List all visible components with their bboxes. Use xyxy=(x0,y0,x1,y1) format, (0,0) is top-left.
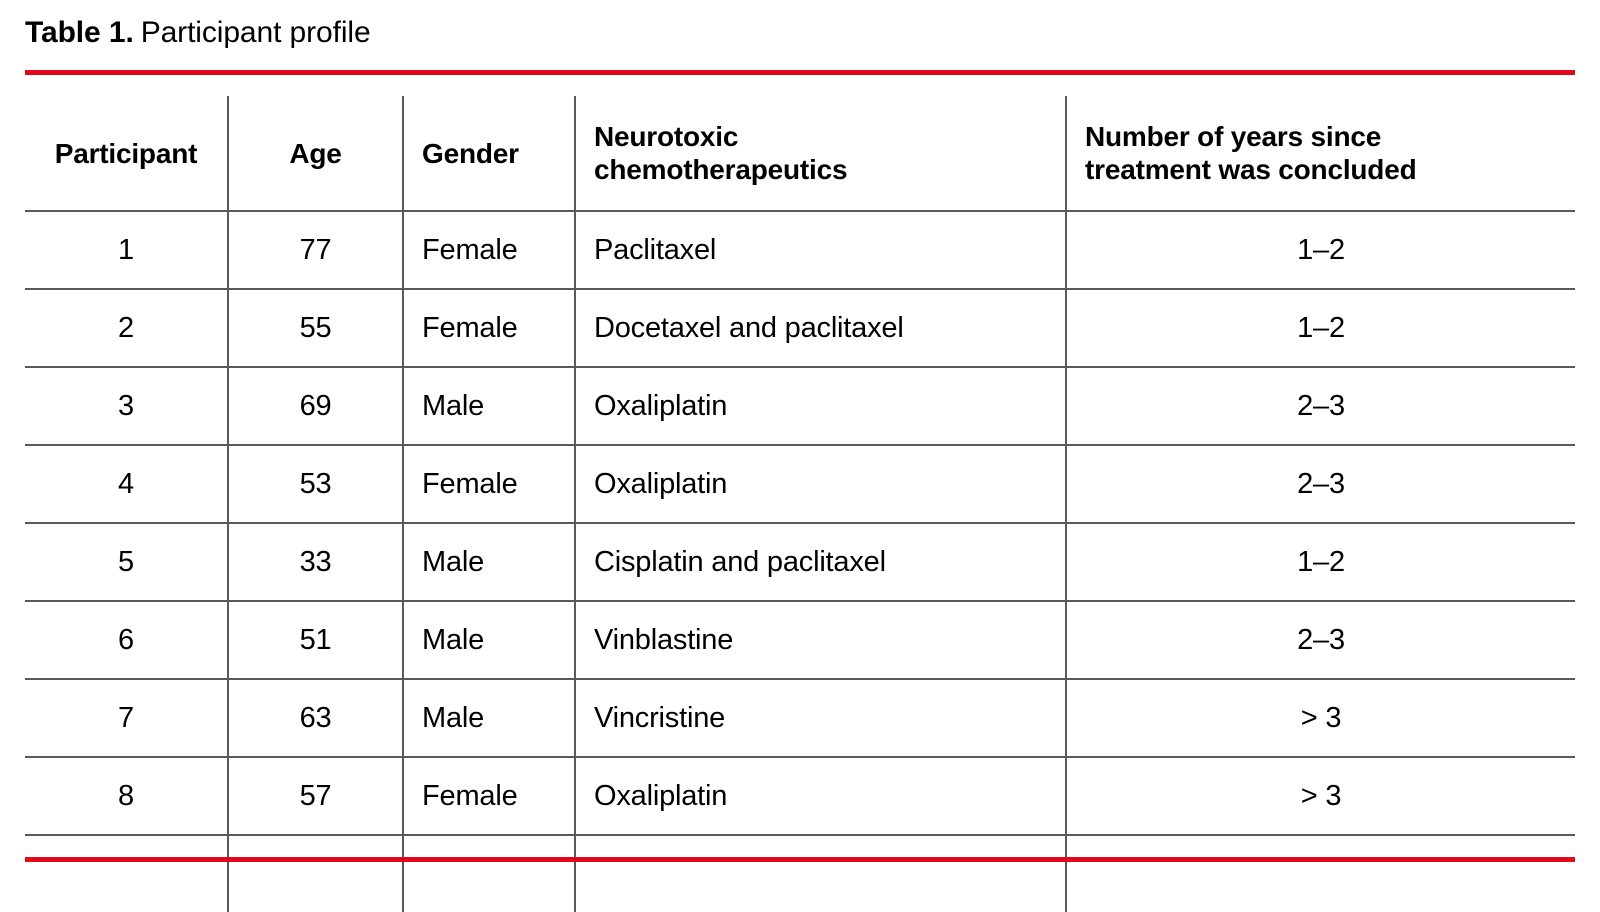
table-row: 651MaleVinblastine2–3 xyxy=(25,601,1575,679)
cell-years-value: > 3 xyxy=(1067,779,1575,813)
cell-participant-value: 1 xyxy=(25,233,227,267)
cell-years: > 3 xyxy=(1066,757,1575,835)
cell-age: 53 xyxy=(228,445,403,523)
cell-participant-value: 7 xyxy=(25,701,227,735)
column-header-years-line1: Number of years since xyxy=(1067,120,1575,153)
cell-age: 55 xyxy=(228,289,403,367)
cell-age: 33 xyxy=(228,523,403,601)
cell-participant: 1 xyxy=(25,211,228,289)
table-figure-page: Table 1.Participant profile Participant … xyxy=(0,0,1600,882)
cell-chemo: Cisplatin and paclitaxel xyxy=(575,523,1066,601)
cell-chemo-value: Oxaliplatin xyxy=(576,467,1065,501)
cell-participant: 6 xyxy=(25,601,228,679)
cell-years: 1–2 xyxy=(1066,211,1575,289)
table-row: 857FemaleOxaliplatin> 3 xyxy=(25,757,1575,835)
cell-gender-value: Female xyxy=(404,233,574,267)
table-body: 177FemalePaclitaxel1–2255FemaleDocetaxel… xyxy=(25,211,1575,912)
table-header-row: Participant Age Gender Neurotoxic chemot… xyxy=(25,96,1575,211)
cell-participant-value: 8 xyxy=(25,779,227,813)
cell-years: > 3 xyxy=(1066,679,1575,757)
cell-years-value: 1–2 xyxy=(1067,233,1575,267)
cell-chemo-value: Paclitaxel xyxy=(576,233,1065,267)
cell-chemo-value: Vinblastine xyxy=(576,623,1065,657)
cell-gender: Female xyxy=(403,757,575,835)
column-header-chemo: Neurotoxic chemotherapeutics xyxy=(575,96,1066,211)
cell-gender: Female xyxy=(403,211,575,289)
table-container: Participant Age Gender Neurotoxic chemot… xyxy=(25,96,1575,912)
cell-age: 69 xyxy=(228,367,403,445)
cell-participant-value: 5 xyxy=(25,545,227,579)
cell-chemo-value: Docetaxel and paclitaxel xyxy=(576,311,1065,345)
cell-gender: Male xyxy=(403,679,575,757)
spacer-cell-gender xyxy=(403,835,575,912)
cell-age: 57 xyxy=(228,757,403,835)
cell-chemo: Vinblastine xyxy=(575,601,1066,679)
column-header-gender: Gender xyxy=(403,96,575,211)
table-caption: Table 1.Participant profile xyxy=(25,14,371,52)
cell-years-value: 2–3 xyxy=(1067,623,1575,657)
cell-chemo: Oxaliplatin xyxy=(575,757,1066,835)
cell-age-value: 53 xyxy=(229,467,402,501)
cell-age-value: 33 xyxy=(229,545,402,579)
cell-gender-value: Male xyxy=(404,701,574,735)
cell-chemo: Oxaliplatin xyxy=(575,367,1066,445)
table-row: 255FemaleDocetaxel and paclitaxel1–2 xyxy=(25,289,1575,367)
cell-years-value: 2–3 xyxy=(1067,467,1575,501)
column-header-age-label: Age xyxy=(229,137,402,170)
cell-years: 1–2 xyxy=(1066,523,1575,601)
spacer-cell-chemo xyxy=(575,835,1066,912)
cell-years: 1–2 xyxy=(1066,289,1575,367)
cell-participant: 4 xyxy=(25,445,228,523)
column-header-gender-label: Gender xyxy=(404,137,574,170)
table-row: 453FemaleOxaliplatin2–3 xyxy=(25,445,1575,523)
cell-years: 2–3 xyxy=(1066,601,1575,679)
cell-years-value: > 3 xyxy=(1067,701,1575,735)
cell-gender: Male xyxy=(403,601,575,679)
cell-age-value: 69 xyxy=(229,389,402,423)
cell-gender: Female xyxy=(403,445,575,523)
cell-chemo-value: Vincristine xyxy=(576,701,1065,735)
cell-gender: Female xyxy=(403,289,575,367)
cell-chemo: Docetaxel and paclitaxel xyxy=(575,289,1066,367)
cell-gender-value: Male xyxy=(404,389,574,423)
cell-chemo-value: Cisplatin and paclitaxel xyxy=(576,545,1065,579)
cell-age: 63 xyxy=(228,679,403,757)
table-caption-text: Participant profile xyxy=(141,16,371,49)
cell-years: 2–3 xyxy=(1066,367,1575,445)
cell-gender-value: Male xyxy=(404,545,574,579)
cell-gender: Male xyxy=(403,523,575,601)
cell-age-value: 77 xyxy=(229,233,402,267)
column-header-chemo-line2: chemotherapeutics xyxy=(576,153,1065,186)
cell-years-value: 1–2 xyxy=(1067,311,1575,345)
cell-age: 77 xyxy=(228,211,403,289)
table-row: 177FemalePaclitaxel1–2 xyxy=(25,211,1575,289)
cell-years-value: 1–2 xyxy=(1067,545,1575,579)
cell-age-value: 57 xyxy=(229,779,402,813)
cell-age-value: 51 xyxy=(229,623,402,657)
participant-profile-table: Participant Age Gender Neurotoxic chemot… xyxy=(25,96,1575,912)
column-header-years: Number of years since treatment was conc… xyxy=(1066,96,1575,211)
cell-participant-value: 3 xyxy=(25,389,227,423)
cell-participant-value: 2 xyxy=(25,311,227,345)
bottom-red-rule xyxy=(25,857,1575,862)
cell-chemo: Paclitaxel xyxy=(575,211,1066,289)
cell-chemo: Oxaliplatin xyxy=(575,445,1066,523)
cell-age-value: 63 xyxy=(229,701,402,735)
table-header: Participant Age Gender Neurotoxic chemot… xyxy=(25,96,1575,211)
cell-participant-value: 4 xyxy=(25,467,227,501)
cell-years: 2–3 xyxy=(1066,445,1575,523)
column-header-years-line2: treatment was concluded xyxy=(1067,153,1575,186)
cell-gender-value: Female xyxy=(404,311,574,345)
table-row: 533MaleCisplatin and paclitaxel1–2 xyxy=(25,523,1575,601)
spacer-cell-age xyxy=(228,835,403,912)
top-red-rule xyxy=(25,70,1575,75)
cell-years-value: 2–3 xyxy=(1067,389,1575,423)
column-header-participant: Participant xyxy=(25,96,228,211)
table-row: 763MaleVincristine> 3 xyxy=(25,679,1575,757)
table-bottom-spacer xyxy=(25,835,1575,912)
column-header-participant-label: Participant xyxy=(25,137,227,170)
cell-chemo-value: Oxaliplatin xyxy=(576,389,1065,423)
cell-participant: 8 xyxy=(25,757,228,835)
cell-participant: 3 xyxy=(25,367,228,445)
spacer-cell-participant xyxy=(25,835,228,912)
cell-gender: Male xyxy=(403,367,575,445)
cell-chemo: Vincristine xyxy=(575,679,1066,757)
cell-gender-value: Female xyxy=(404,467,574,501)
cell-gender-value: Female xyxy=(404,779,574,813)
cell-participant-value: 6 xyxy=(25,623,227,657)
cell-participant: 7 xyxy=(25,679,228,757)
cell-gender-value: Male xyxy=(404,623,574,657)
cell-age-value: 55 xyxy=(229,311,402,345)
cell-participant: 5 xyxy=(25,523,228,601)
cell-participant: 2 xyxy=(25,289,228,367)
table-caption-label: Table 1. xyxy=(25,16,134,49)
cell-chemo-value: Oxaliplatin xyxy=(576,779,1065,813)
spacer-cell-years xyxy=(1066,835,1575,912)
column-header-chemo-line1: Neurotoxic xyxy=(576,120,1065,153)
cell-age: 51 xyxy=(228,601,403,679)
column-header-age: Age xyxy=(228,96,403,211)
table-row: 369MaleOxaliplatin2–3 xyxy=(25,367,1575,445)
